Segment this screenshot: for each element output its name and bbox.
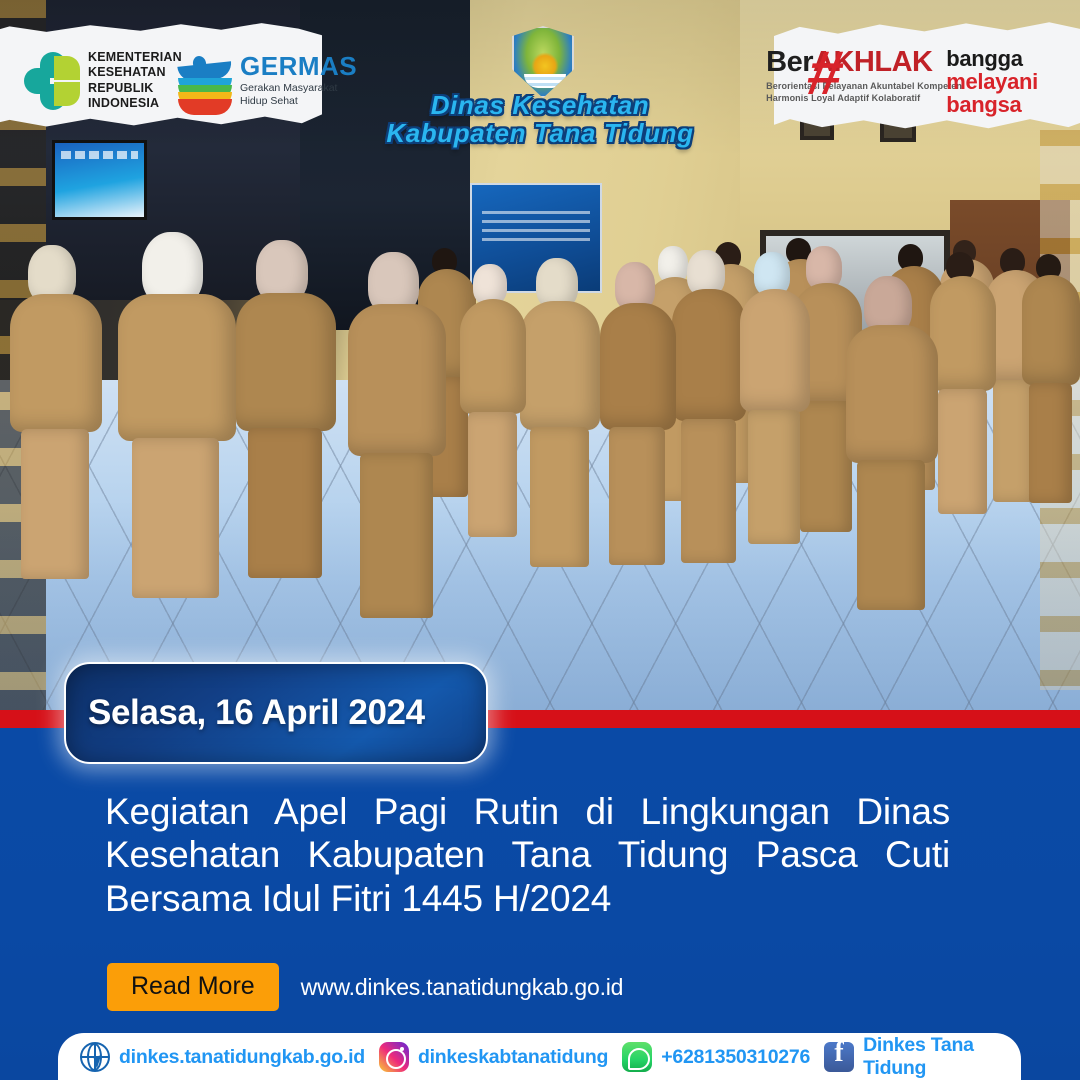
instagram-icon [379,1042,409,1072]
photo-person [846,276,938,576]
footer-label-website: dinkes.tanatidungkab.go.id [119,1046,365,1069]
headline: Kegiatan Apel Pagi Rutin di Lingkungan D… [105,790,950,920]
photo-person [600,262,676,538]
footer-label-whatsapp: +6281350310276 [661,1046,810,1069]
tagline-line-1: bangga [946,48,1038,71]
photo-person [1022,252,1080,492]
website-url: www.dinkes.tanatidungkab.go.id [301,974,624,1001]
read-more-button[interactable]: Read More [107,963,279,1011]
date-text: Selasa, 16 April 2024 [66,693,425,733]
headline-text: Kegiatan Apel Pagi Rutin di Lingkungan D… [105,791,950,919]
footer-item-instagram[interactable]: dinkeskabtanatidung [379,1042,608,1072]
organization-title: Dinas Kesehatan Kabupaten Tana Tidung [0,92,1080,147]
footer-label-instagram: dinkeskabtanatidung [418,1046,608,1069]
globe-icon [80,1042,110,1072]
photo-person [348,252,446,582]
footer-item-website[interactable]: dinkes.tanatidungkab.go.id [80,1042,365,1072]
organization-title-line-2: Kabupaten Tana Tidung [0,120,1080,148]
photo-person [460,264,526,514]
footer-item-whatsapp[interactable]: +6281350310276 [622,1042,810,1072]
footer-item-facebook[interactable]: Dinkes Tana Tidung [824,1034,999,1080]
whatsapp-icon [622,1042,652,1072]
germas-title: GERMAS [240,53,357,79]
photo-person [520,258,600,538]
footer-label-facebook: Dinkes Tana Tidung [863,1034,999,1080]
cta-row: Read More www.dinkes.tanatidungkab.go.id [107,963,623,1011]
photo-person [236,240,336,540]
facebook-icon [824,1042,854,1072]
date-badge: Selasa, 16 April 2024 [64,662,488,764]
tagline-line-2: melayani [946,71,1038,94]
photo-person [118,232,236,552]
photo-person [740,252,810,520]
photo-person [672,250,746,538]
photo-person [930,250,996,500]
photo-wall-poster [52,140,147,220]
social-footer-bar: dinkes.tanatidungkab.go.id dinkeskabtana… [58,1033,1021,1080]
photo-person [10,245,102,545]
organization-title-line-1: Dinas Kesehatan [0,92,1080,120]
berakhlak-prefix: Ber [766,46,813,78]
